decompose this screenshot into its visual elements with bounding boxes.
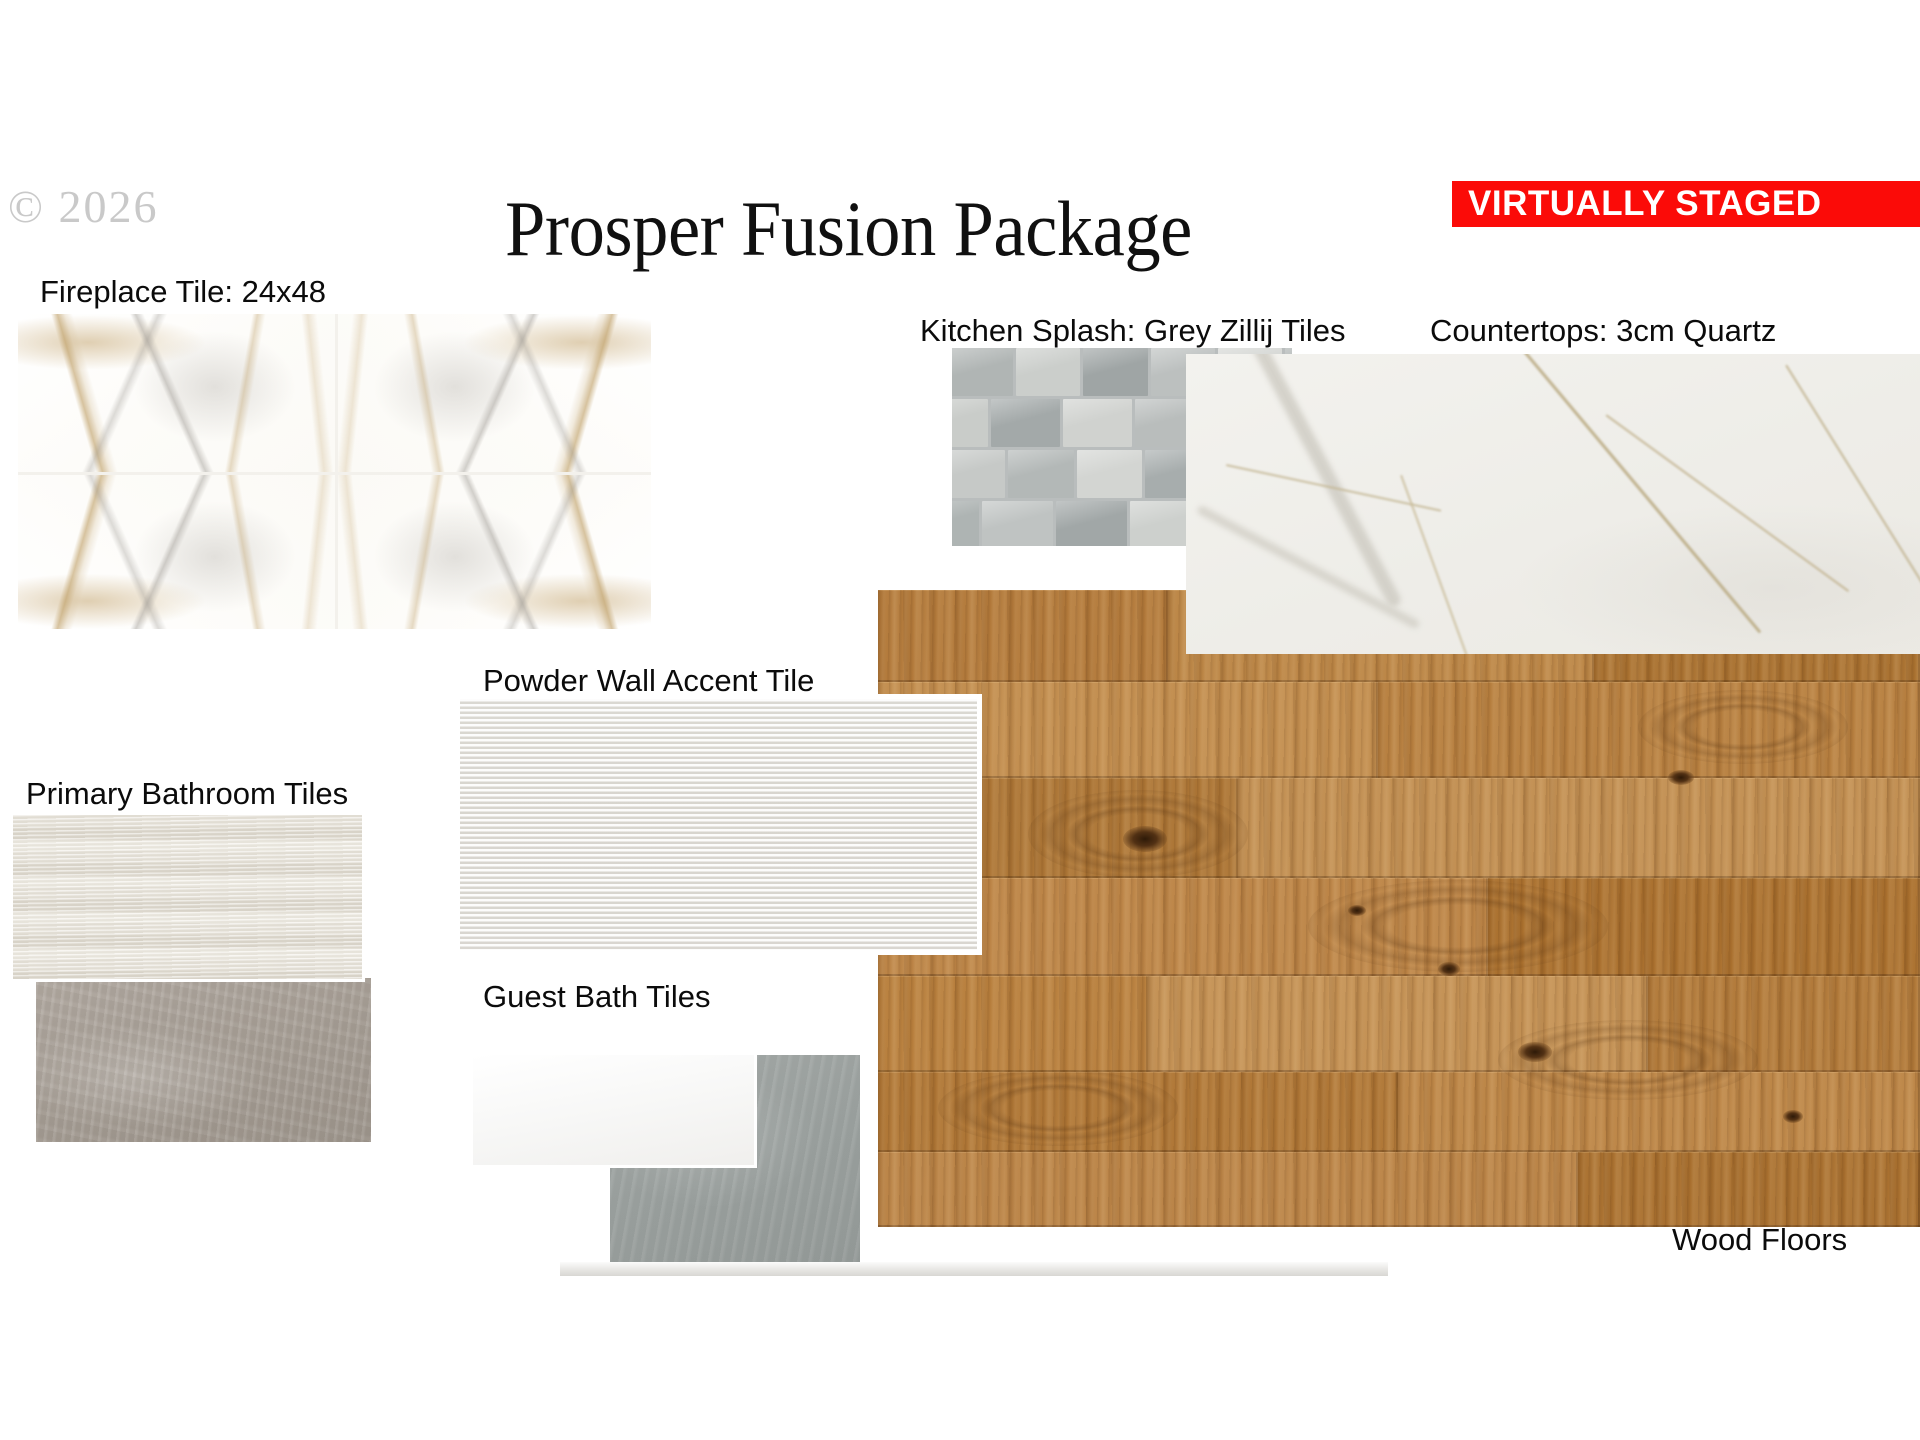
wood-knot [1348,905,1366,916]
marble-tile-cell [18,472,335,630]
zillij-tile [1008,450,1074,498]
caption-kitchen-splash: Kitchen Splash: Grey Zillij Tiles [920,313,1346,349]
zillij-tile [991,399,1060,447]
marble-tile-cell [18,314,335,472]
zillij-tile [952,348,1013,396]
wood-plank [878,1152,1578,1227]
wood-grain-swirl [1308,880,1608,972]
primary-bath-light-tile-swatch [10,812,365,982]
status-badge: VIRTUALLY STAGED [1452,181,1920,227]
zillij-tile [952,501,979,546]
quartz-vein [1515,354,1762,634]
zillij-tile [952,399,988,447]
wood-knot [1668,770,1694,785]
zillij-tile [1016,348,1080,396]
wood-grain-swirl [1638,690,1848,764]
wood-plank [1238,778,1920,878]
quartz-vein [1196,505,1421,630]
zillij-tile [1083,348,1147,396]
marble-tile-cell [335,472,652,630]
zillij-tile [952,450,1005,498]
wood-plank [878,976,1148,1072]
wood-floor-swatch [878,590,1920,1227]
page-title: Prosper Fusion Package [505,190,1192,268]
zillij-tile [1077,450,1143,498]
wood-plank [878,590,1168,682]
marble-tile-cell [335,314,652,472]
wood-knot [1438,962,1460,976]
caption-guest-bath: Guest Bath Tiles [483,979,710,1015]
wood-plank [1578,1152,1920,1227]
bottom-trim-strip [560,1262,1388,1276]
caption-powder-wall-accent: Powder Wall Accent Tile [483,663,814,699]
countertop-quartz-swatch [1186,354,1920,654]
caption-fireplace-tile: Fireplace Tile: 24x48 [40,274,326,310]
quartz-vein [1785,364,1920,645]
quartz-vein [1605,414,1849,592]
copyright-watermark: © 2026 [8,180,158,233]
caption-primary-bathroom: Primary Bathroom Tiles [26,776,348,812]
grout-line-horizontal [18,472,651,475]
zillij-tile [1063,399,1132,447]
fireplace-tile-swatch [18,314,651,629]
powder-accent-tile-swatch [455,694,982,955]
primary-bath-dark-tile-swatch [36,978,371,1142]
wood-grain-swirl [938,1070,1178,1146]
caption-countertops: Countertops: 3cm Quartz [1430,313,1776,349]
caption-wood-floors: Wood Floors [1672,1222,1847,1258]
guest-bath-light-tile-swatch [470,1052,757,1168]
wood-knot [1123,826,1167,852]
zillij-tile [982,501,1053,546]
design-package-board: © 2026 Prosper Fusion Package VIRTUALLY … [0,0,1920,1440]
wood-knot [1783,1110,1803,1123]
wood-knot [1518,1042,1552,1062]
zillij-tile [1056,501,1127,546]
